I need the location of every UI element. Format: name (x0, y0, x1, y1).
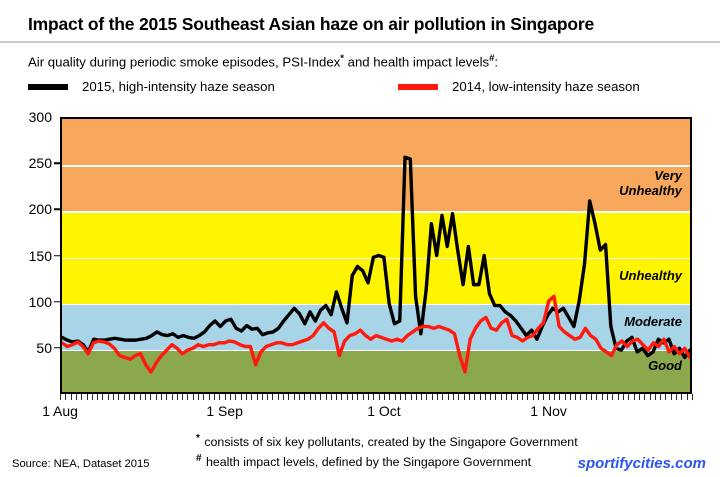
x-minor-tick (538, 394, 539, 400)
x-minor-tick (182, 394, 183, 400)
x-minor-tick (166, 394, 167, 400)
footnote-marker-1: * (196, 432, 200, 446)
x-minor-tick (113, 394, 114, 400)
x-minor-tick (177, 394, 178, 400)
x-minor-tick (511, 394, 512, 400)
x-minor-tick (267, 394, 268, 400)
x-minor-tick (65, 394, 66, 400)
x-minor-tick (357, 394, 358, 400)
x-minor-tick (246, 394, 247, 400)
x-minor-tick (331, 394, 332, 400)
x-minor-tick (97, 394, 98, 400)
x-minor-tick (612, 394, 613, 400)
x-minor-tick (262, 394, 263, 400)
x-minor-tick (602, 394, 603, 400)
x-minor-tick (543, 394, 544, 400)
x-minor-tick (660, 394, 661, 400)
x-minor-tick (150, 394, 151, 400)
x-tick-label-1-aug: 1 Aug (42, 403, 78, 419)
x-minor-tick (198, 394, 199, 400)
x-minor-tick (565, 394, 566, 400)
x-minor-tick (241, 394, 242, 400)
x-minor-tick (299, 394, 300, 400)
x-minor-tick (161, 394, 162, 400)
x-minor-tick (145, 394, 146, 400)
x-minor-tick (235, 394, 236, 400)
x-minor-tick (533, 394, 534, 400)
x-minor-tick (272, 394, 273, 400)
x-minor-tick (575, 394, 576, 400)
x-minor-tick (474, 394, 475, 400)
x-minor-tick (60, 394, 61, 400)
x-minor-tick (76, 394, 77, 400)
x-axis-tick-marks (60, 394, 692, 401)
x-minor-tick (294, 394, 295, 400)
x-minor-tick (108, 394, 109, 400)
site-logo: sportifycities.com (578, 455, 706, 472)
y-tick-label-150: 150 (29, 248, 52, 264)
x-minor-tick (315, 394, 316, 400)
x-minor-tick (129, 394, 130, 400)
x-minor-tick (426, 394, 427, 400)
x-minor-tick (692, 394, 693, 400)
x-minor-tick (230, 394, 231, 400)
x-minor-tick (591, 394, 592, 400)
x-minor-tick (634, 394, 635, 400)
x-minor-tick (411, 394, 412, 400)
x-minor-tick (87, 394, 88, 400)
x-minor-tick (453, 394, 454, 400)
x-minor-tick (278, 394, 279, 400)
x-minor-tick (209, 394, 210, 400)
x-minor-tick (687, 394, 688, 400)
x-minor-tick (156, 394, 157, 400)
y-tick-label-250: 250 (29, 155, 52, 171)
x-minor-tick (193, 394, 194, 400)
x-minor-tick (368, 394, 369, 400)
x-minor-tick (421, 394, 422, 400)
y-tick-label-100: 100 (29, 294, 52, 310)
x-minor-tick (251, 394, 252, 400)
x-minor-tick (384, 394, 385, 400)
x-minor-tick (437, 394, 438, 400)
source-note: Source: NEA, Dataset 2015 (12, 458, 149, 470)
legend-item-2014: 2014, low-intensity haze season (398, 79, 640, 94)
x-minor-tick (172, 394, 173, 400)
footnote-marker-2: # (196, 452, 202, 466)
x-minor-tick (225, 394, 226, 400)
x-minor-tick (522, 394, 523, 400)
x-minor-tick (506, 394, 507, 400)
y-axis: 50100150200250300 (0, 117, 52, 394)
x-minor-tick (71, 394, 72, 400)
x-minor-tick (639, 394, 640, 400)
x-minor-tick (310, 394, 311, 400)
x-minor-tick (580, 394, 581, 400)
x-minor-tick (628, 394, 629, 400)
subtitle-part-3: : (494, 54, 498, 69)
x-minor-tick (442, 394, 443, 400)
x-minor-tick (517, 394, 518, 400)
footnote-row-1: * consists of six key pollutants, create… (196, 432, 666, 452)
x-minor-tick (203, 394, 204, 400)
legend-label-2015: 2015, high-intensity haze season (82, 79, 275, 94)
x-minor-tick (81, 394, 82, 400)
x-minor-tick (219, 394, 220, 400)
x-minor-tick (118, 394, 119, 400)
x-minor-tick (527, 394, 528, 400)
subtitle-part-1: Air quality during periodic smoke episod… (28, 54, 340, 69)
x-minor-tick (644, 394, 645, 400)
footnote-text-1: consists of six key pollutants, created … (201, 435, 578, 449)
x-minor-tick (140, 394, 141, 400)
x-minor-tick (326, 394, 327, 400)
x-minor-tick (671, 394, 672, 400)
x-minor-tick (352, 394, 353, 400)
title-divider (0, 41, 720, 43)
x-minor-tick (554, 394, 555, 400)
x-minor-tick (389, 394, 390, 400)
x-minor-tick (102, 394, 103, 400)
x-minor-tick (448, 394, 449, 400)
x-minor-tick (570, 394, 571, 400)
x-minor-tick (623, 394, 624, 400)
x-minor-tick (586, 394, 587, 400)
x-minor-tick (134, 394, 135, 400)
legend-item-2015: 2015, high-intensity haze season (28, 79, 275, 94)
subtitle-part-2: and health impact levels (344, 54, 489, 69)
x-minor-tick (304, 394, 305, 400)
x-minor-tick (395, 394, 396, 400)
x-minor-tick (214, 394, 215, 400)
x-minor-tick (464, 394, 465, 400)
footnote-text-2: health impact levels, defined by the Sin… (203, 455, 532, 469)
x-minor-tick (124, 394, 125, 400)
x-minor-tick (400, 394, 401, 400)
x-minor-tick (458, 394, 459, 400)
x-minor-tick (257, 394, 258, 400)
x-minor-tick (373, 394, 374, 400)
x-minor-tick (607, 394, 608, 400)
page-title: Impact of the 2015 Southeast Asian haze … (28, 14, 594, 35)
x-minor-tick (665, 394, 666, 400)
x-minor-tick (485, 394, 486, 400)
x-minor-tick (650, 394, 651, 400)
x-minor-tick (288, 394, 289, 400)
x-minor-tick (495, 394, 496, 400)
y-tick-label-200: 200 (29, 201, 52, 217)
x-minor-tick (596, 394, 597, 400)
x-minor-tick (283, 394, 284, 400)
legend-label-2014: 2014, low-intensity haze season (452, 79, 640, 94)
x-minor-tick (432, 394, 433, 400)
x-tick-label-1-sep: 1 Sep (206, 403, 243, 419)
x-minor-tick (347, 394, 348, 400)
x-minor-tick (187, 394, 188, 400)
y-tick-label-300: 300 (29, 109, 52, 125)
x-minor-tick (469, 394, 470, 400)
x-minor-tick (480, 394, 481, 400)
x-minor-tick (655, 394, 656, 400)
x-axis-labels: 1 Aug1 Sep1 Oct1 Nov (0, 403, 720, 423)
x-minor-tick (336, 394, 337, 400)
y-tick-label-50: 50 (36, 340, 52, 356)
x-minor-tick (501, 394, 502, 400)
x-tick-label-1-nov: 1 Nov (530, 403, 567, 419)
chart-legend: 2015, high-intensity haze season 2014, l… (28, 79, 688, 101)
legend-swatch-2014 (398, 84, 438, 90)
series-lines (62, 119, 690, 392)
x-tick-label-1-oct: 1 Oct (367, 403, 400, 419)
x-minor-tick (549, 394, 550, 400)
x-minor-tick (92, 394, 93, 400)
x-minor-tick (559, 394, 560, 400)
chart-subtitle: Air quality during periodic smoke episod… (28, 53, 498, 69)
line-series-2015 (62, 157, 690, 357)
x-minor-tick (363, 394, 364, 400)
x-minor-tick (405, 394, 406, 400)
chart-page: Impact of the 2015 Southeast Asian haze … (0, 0, 720, 477)
legend-swatch-2015 (28, 84, 68, 90)
x-minor-tick (490, 394, 491, 400)
x-minor-tick (618, 394, 619, 400)
x-minor-tick (416, 394, 417, 400)
x-minor-tick (320, 394, 321, 400)
x-minor-tick (676, 394, 677, 400)
x-minor-tick (681, 394, 682, 400)
plot-area: GoodModerateUnhealthyVery Unhealthy (60, 117, 692, 394)
x-minor-tick (341, 394, 342, 400)
x-minor-tick (379, 394, 380, 400)
